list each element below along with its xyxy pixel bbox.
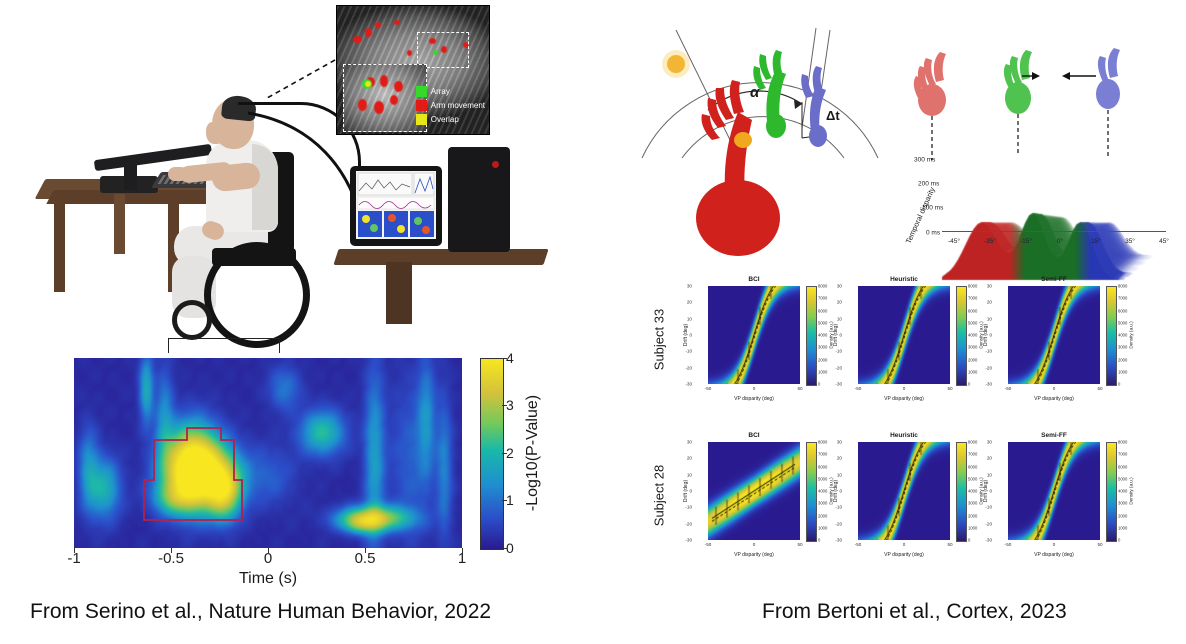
- colorbar-tick: 7000: [818, 296, 827, 301]
- colorbar-label: Density (a.u.): [1129, 477, 1134, 504]
- y-tick-label: 30: [687, 440, 692, 445]
- activation-blob: [375, 22, 381, 28]
- y-tick-label: 20: [987, 456, 992, 461]
- y-tick-label: 0: [839, 489, 842, 494]
- panel-title: Semi-FF: [1041, 276, 1067, 283]
- colorbar-tick: 1000: [968, 525, 977, 530]
- colorbar-tick: 5000: [968, 320, 977, 325]
- colorbar-tick: 3000: [968, 345, 977, 350]
- x-axis-label: VP disparity (deg): [734, 396, 774, 402]
- colorbar-tick: 0: [818, 538, 820, 543]
- y-tick-label: 10: [987, 316, 992, 321]
- colorbar-tick: 7000: [968, 296, 977, 301]
- colorbar: [480, 358, 504, 550]
- colorbar-tick: 0: [968, 382, 970, 387]
- y-tick-label: -30: [685, 538, 692, 543]
- y-tick-label: 10: [687, 316, 692, 321]
- x-axis-label: VP disparity (deg): [1034, 552, 1074, 558]
- y-tick-label: 10: [987, 472, 992, 477]
- colorbar-tick: 2000: [968, 357, 977, 362]
- overlap-swatch-icon: [416, 114, 427, 125]
- colorbar-tick: 6000: [1118, 308, 1127, 313]
- colorbar-tick: 3000: [1118, 345, 1127, 350]
- colorbar-tick: 2000: [818, 513, 827, 518]
- colorbar-tick: 1000: [1118, 525, 1127, 530]
- colorbar-tick: 0: [968, 538, 970, 543]
- activation-blob: [394, 20, 400, 25]
- colorbar-tick: 0: [506, 540, 514, 556]
- colorbar-tick: 3000: [818, 501, 827, 506]
- y-tick-label: 300 ms: [914, 157, 935, 164]
- colorbar-label: -Log10(P-Value): [524, 395, 542, 511]
- colorbar-tick: 4: [506, 350, 514, 366]
- colorbar-tick: 6000: [968, 464, 977, 469]
- caption-left: From Serino et al., Nature Human Behavio…: [30, 600, 491, 624]
- x-tick-label: 15°: [1091, 238, 1101, 245]
- colorbar-tick: 8000: [818, 440, 827, 445]
- colorbar-tick: 5000: [1118, 320, 1127, 325]
- density-panel: BCI3020100-10-20-30-50050Drift (deg)VP d…: [682, 276, 832, 416]
- hand-blue-icon: [1096, 48, 1120, 109]
- colorbar-tick: 8000: [1118, 440, 1127, 445]
- density-axes: [858, 442, 950, 540]
- colorbar-label: Density (a.u.): [1129, 321, 1134, 348]
- density-canvas: [708, 442, 800, 540]
- y-tick-label: -20: [985, 365, 992, 370]
- y-tick-label: 20: [987, 300, 992, 305]
- x-tick-label: -50: [705, 542, 712, 547]
- y-tick-label: -10: [685, 505, 692, 510]
- colorbar-tick: 1: [506, 492, 514, 508]
- density-panel: Heuristic3020100-10-20-30-50050Drift (de…: [832, 432, 982, 572]
- x-tick-label: -15°: [1020, 238, 1032, 245]
- colorbar-tick: 8000: [968, 284, 977, 289]
- inset-overlap-blob: [365, 81, 371, 87]
- row-label-subject-33: Subject 33: [652, 305, 667, 375]
- density-canvas: [858, 286, 950, 384]
- panel-title: Heuristic: [890, 432, 918, 439]
- computer-desk: [333, 249, 548, 265]
- y-tick-label: 10: [837, 316, 842, 321]
- x-tick-label: -0.5: [158, 550, 184, 567]
- colorbar-tick: 2000: [1118, 357, 1127, 362]
- x-tick-label: 0: [903, 542, 906, 547]
- y-tick-label: -10: [985, 505, 992, 510]
- x-tick-label: 50: [1097, 386, 1102, 391]
- y-tick-label: -10: [835, 505, 842, 510]
- colorbar-tick: 7000: [818, 452, 827, 457]
- colorbar: [806, 286, 817, 386]
- y-tick-label: -30: [685, 382, 692, 387]
- activation-blob: [407, 50, 412, 56]
- x-tick-label: -50: [855, 542, 862, 547]
- panel-title: BCI: [748, 432, 759, 439]
- density-plot-grid: Subject 33 Subject 28 BCI3020100-10-20-3…: [636, 270, 1186, 588]
- x-tick-label: 50: [797, 386, 802, 391]
- row-label-subject-28: Subject 28: [652, 461, 667, 531]
- y-tick-label: -30: [985, 382, 992, 387]
- density-panel: Semi-FF3020100-10-20-30-50050Drift (deg)…: [982, 432, 1132, 572]
- arm-movement-swatch-icon: [416, 100, 427, 111]
- panel-title: Heuristic: [890, 276, 918, 283]
- y-axis-label: Drift (deg): [983, 480, 989, 502]
- temporal-disparity-surface-chart: 300 ms 200 ms 100 ms 0 ms Temporal dispa…: [900, 48, 1186, 263]
- density-canvas: [858, 442, 950, 540]
- colorbar-tick: 5000: [968, 476, 977, 481]
- colorbar-tick: 5000: [818, 476, 827, 481]
- y-tick-label: -20: [685, 521, 692, 526]
- x-tick-label: 0: [753, 386, 756, 391]
- computer-desk-leg: [386, 262, 412, 324]
- colorbar: [956, 286, 967, 386]
- hand-red-icon: [914, 52, 946, 116]
- inset-activation-blob: [390, 95, 398, 105]
- x-tick-label: 0: [1053, 542, 1056, 547]
- y-tick-label: -10: [685, 349, 692, 354]
- x-tick-label: 0: [264, 550, 272, 567]
- y-tick-label: 30: [687, 284, 692, 289]
- inset-activation-blob: [380, 75, 388, 87]
- x-axis-label: VP disparity (deg): [884, 396, 924, 402]
- x-tick-label: 0.5: [355, 550, 376, 567]
- activation-blob: [365, 28, 372, 37]
- colorbar-tick: 2000: [968, 513, 977, 518]
- y-tick-label: -20: [835, 365, 842, 370]
- legend-label: Overlap: [431, 115, 459, 124]
- array-swatch-icon: [416, 86, 427, 97]
- x-tick-label: -45°: [948, 238, 960, 245]
- arm-reach-diagram: α Δt: [630, 8, 910, 258]
- x-tick-label: 50: [797, 542, 802, 547]
- x-tick-label: 0°: [1057, 238, 1063, 245]
- density-axes: [1008, 442, 1100, 540]
- y-tick-label: 30: [987, 440, 992, 445]
- density-canvas: [1008, 286, 1100, 384]
- colorbar-tick: 2: [506, 445, 514, 461]
- colorbar: [956, 442, 967, 542]
- y-axis-label: Drift (deg): [683, 480, 689, 502]
- legend-item-arm-movement: Arm movement: [416, 100, 485, 111]
- x-axis-label: VP disparity (deg): [734, 552, 774, 558]
- y-tick-label: -10: [835, 349, 842, 354]
- y-tick-label: 20: [837, 456, 842, 461]
- x-tick-label: -50: [855, 386, 862, 391]
- colorbar-tick: 6000: [818, 308, 827, 313]
- colorbar: [806, 442, 817, 542]
- colorbar-tick: 0: [1118, 538, 1120, 543]
- inset-activation-blob: [394, 81, 403, 92]
- legend-item-overlap: Overlap: [416, 114, 485, 125]
- y-tick-label: 20: [687, 300, 692, 305]
- y-tick-label: 30: [987, 284, 992, 289]
- brain-legend: Array Arm movement Overlap: [416, 86, 485, 128]
- x-axis-label: VP disparity (deg): [1034, 396, 1074, 402]
- y-tick-label: 20: [837, 300, 842, 305]
- caption-right: From Bertoni et al., Cortex, 2023: [762, 600, 1067, 624]
- legend-label: Array: [431, 87, 450, 96]
- hand-green-icon: [1004, 50, 1032, 114]
- y-tick-label: -20: [985, 521, 992, 526]
- colorbar-tick: 7000: [968, 452, 977, 457]
- colorbar-tick: 4000: [1118, 333, 1127, 338]
- zoom-inset: [343, 64, 427, 132]
- desk-leg: [54, 200, 65, 292]
- density-canvas: [1008, 442, 1100, 540]
- y-tick-label: 30: [837, 440, 842, 445]
- colorbar-tick: 1000: [818, 525, 827, 530]
- density-axes: [708, 442, 800, 540]
- y-tick-label: -20: [685, 365, 692, 370]
- x-tick-label: 50: [1097, 542, 1102, 547]
- time-frequency-pvalue-chart: -1 -0.5 0 0.5 1 Time (s) 0 1 2 3 4 -Log1…: [28, 330, 548, 585]
- legend-item-array: Array: [416, 86, 485, 97]
- colorbar-tick: 6000: [968, 308, 977, 313]
- colorbar-tick: 1000: [818, 369, 827, 374]
- x-tick-label: 0: [1053, 386, 1056, 391]
- participant-hand: [168, 167, 188, 181]
- density-axes: [1008, 286, 1100, 384]
- x-tick-label: 50: [947, 542, 952, 547]
- colorbar-tick: 4000: [1118, 489, 1127, 494]
- computer-tower: [448, 147, 510, 252]
- colorbar-tick: 7000: [1118, 296, 1127, 301]
- y-tick-label: 0: [989, 333, 992, 338]
- x-tick-label: 35°: [1125, 238, 1135, 245]
- power-led-icon: [492, 161, 499, 168]
- colorbar-tick: 3: [506, 397, 514, 413]
- time-window-bracket: [168, 338, 280, 353]
- density-panel: Heuristic3020100-10-20-30-50050Drift (de…: [832, 276, 982, 416]
- desk-leg: [114, 194, 125, 254]
- y-axis-label: Drift (deg): [833, 324, 839, 346]
- colorbar-tick: 3000: [1118, 501, 1127, 506]
- density-panel: Semi-FF3020100-10-20-30-50050Drift (deg)…: [982, 276, 1132, 416]
- y-axis-label: Drift (deg): [833, 480, 839, 502]
- x-tick-label: 45°: [1159, 238, 1169, 245]
- colorbar: [1106, 286, 1117, 386]
- x-tick-label: 0: [903, 386, 906, 391]
- x-tick-label: -50: [705, 386, 712, 391]
- x-tick-label: -35°: [984, 238, 996, 245]
- delta-t-label: Δt: [826, 108, 840, 123]
- inset-activation-blob: [358, 99, 367, 111]
- y-tick-label: 10: [687, 472, 692, 477]
- colorbar: [1106, 442, 1117, 542]
- x-tick-label: 0: [753, 542, 756, 547]
- colorbar-tick: 2000: [818, 357, 827, 362]
- colorbar-tick: 6000: [818, 464, 827, 469]
- density-canvas: [708, 286, 800, 384]
- x-tick-label: -50: [1005, 542, 1012, 547]
- colorbar-tick: 1000: [1118, 369, 1127, 374]
- monitor-screen: [356, 171, 436, 239]
- panel-title: Semi-FF: [1041, 432, 1067, 439]
- y-tick-label: 10: [837, 472, 842, 477]
- colorbar-tick: 1000: [968, 369, 977, 374]
- colorbar-tick: 0: [1118, 382, 1120, 387]
- density-axes: [858, 286, 950, 384]
- y-tick-label: -30: [835, 382, 842, 387]
- x-tick-label: -1: [67, 550, 80, 567]
- colorbar-tick: 8000: [968, 440, 977, 445]
- colorbar-tick: 6000: [1118, 464, 1127, 469]
- x-axis-label: Time (s): [239, 570, 297, 588]
- y-tick-label: 0: [989, 489, 992, 494]
- x-axis-line: [942, 231, 1166, 232]
- colorbar-tick: 0: [818, 382, 820, 387]
- colorbar-tick: 5000: [1118, 476, 1127, 481]
- screen-plots: [356, 171, 436, 239]
- colorbar-tick: 8000: [818, 284, 827, 289]
- alpha-angle-label: α: [750, 84, 759, 101]
- arm-diagram-svg: [630, 8, 910, 258]
- roi-dashed-box: [417, 32, 469, 68]
- y-tick-label: -30: [835, 538, 842, 543]
- colorbar-tick: 3000: [818, 345, 827, 350]
- colorbar-tick: 7000: [1118, 452, 1127, 457]
- panel-title: BCI: [748, 276, 759, 283]
- y-tick-label: 0: [689, 489, 692, 494]
- colorbar-tick: 4000: [818, 333, 827, 338]
- colorbar-tick: 4000: [968, 333, 977, 338]
- legend-label: Arm movement: [431, 101, 485, 110]
- colorbar-tick: 2000: [1118, 513, 1127, 518]
- density-axes: [708, 286, 800, 384]
- y-axis-label: Drift (deg): [983, 324, 989, 346]
- y-tick-label: 0: [839, 333, 842, 338]
- colorbar-tick: 8000: [1118, 284, 1127, 289]
- colorbar-tick: 3000: [968, 501, 977, 506]
- heatmap-axes: [74, 358, 462, 548]
- colorbar-tick: 4000: [818, 489, 827, 494]
- x-axis-label: VP disparity (deg): [884, 552, 924, 558]
- activation-blob: [353, 36, 362, 43]
- brain-imaging-panel: Array Arm movement Overlap: [336, 5, 490, 135]
- y-tick-label: 0 ms: [926, 230, 940, 237]
- y-tick-label: -10: [985, 349, 992, 354]
- colorbar-tick: 4000: [968, 489, 977, 494]
- y-tick-label: 0: [689, 333, 692, 338]
- y-tick-label: 30: [837, 284, 842, 289]
- y-tick-label: -20: [835, 521, 842, 526]
- y-axis-label: Drift (deg): [683, 324, 689, 346]
- x-tick-label: 1: [458, 550, 466, 567]
- significance-outline: [74, 358, 462, 548]
- inset-activation-blob: [374, 101, 384, 114]
- x-tick-label: 50: [947, 386, 952, 391]
- y-tick-label: -30: [985, 538, 992, 543]
- density-panel: BCI3020100-10-20-30-50050Drift (deg)VP d…: [682, 432, 832, 572]
- y-tick-label: 20: [687, 456, 692, 461]
- colorbar-tick: 5000: [818, 320, 827, 325]
- x-tick-label: -50: [1005, 386, 1012, 391]
